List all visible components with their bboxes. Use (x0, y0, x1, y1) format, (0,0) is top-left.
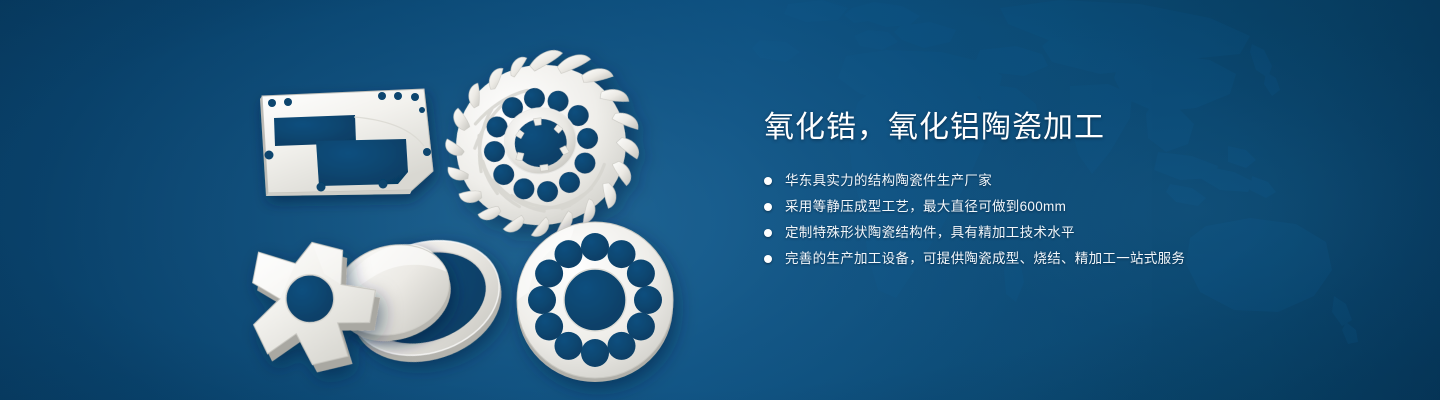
feature-text: 定制特殊形状陶瓷结构件，具有精加工技术水平 (785, 222, 1075, 243)
ceramic-products-image (0, 0, 740, 400)
list-item: 华东具实力的结构陶瓷件生产厂家 (764, 170, 1384, 191)
feature-text: 华东具实力的结构陶瓷件生产厂家 (785, 170, 992, 191)
list-item: 定制特殊形状陶瓷结构件，具有精加工技术水平 (764, 222, 1384, 243)
feature-text: 完善的生产加工设备，可提供陶瓷成型、烧结、精加工一站式服务 (785, 248, 1185, 269)
bullet-dot-icon (764, 203, 772, 211)
feature-text: 采用等静压成型工艺，最大直径可做到600mm (785, 196, 1066, 217)
bullet-dot-icon (764, 255, 772, 263)
ceramic-impeller (433, 40, 651, 247)
ceramic-perforated-disc (517, 222, 673, 382)
bullet-dot-icon (764, 177, 772, 185)
list-item: 完善的生产加工设备，可提供陶瓷成型、烧结、精加工一站式服务 (764, 248, 1384, 269)
banner-text-block: 氧化锆，氧化铝陶瓷加工 华东具实力的结构陶瓷件生产厂家 采用等静压成型工艺，最大… (764, 108, 1384, 274)
list-item: 采用等静压成型工艺，最大直径可做到600mm (764, 196, 1384, 217)
hero-banner: 氧化锆，氧化铝陶瓷加工 华东具实力的结构陶瓷件生产厂家 采用等静压成型工艺，最大… (0, 0, 1440, 400)
banner-feature-list: 华东具实力的结构陶瓷件生产厂家 采用等静压成型工艺，最大直径可做到600mm 定… (764, 170, 1384, 269)
banner-headline: 氧化锆，氧化铝陶瓷加工 (764, 108, 1384, 148)
ceramic-mounting-plate (260, 89, 433, 196)
bullet-dot-icon (764, 229, 772, 237)
